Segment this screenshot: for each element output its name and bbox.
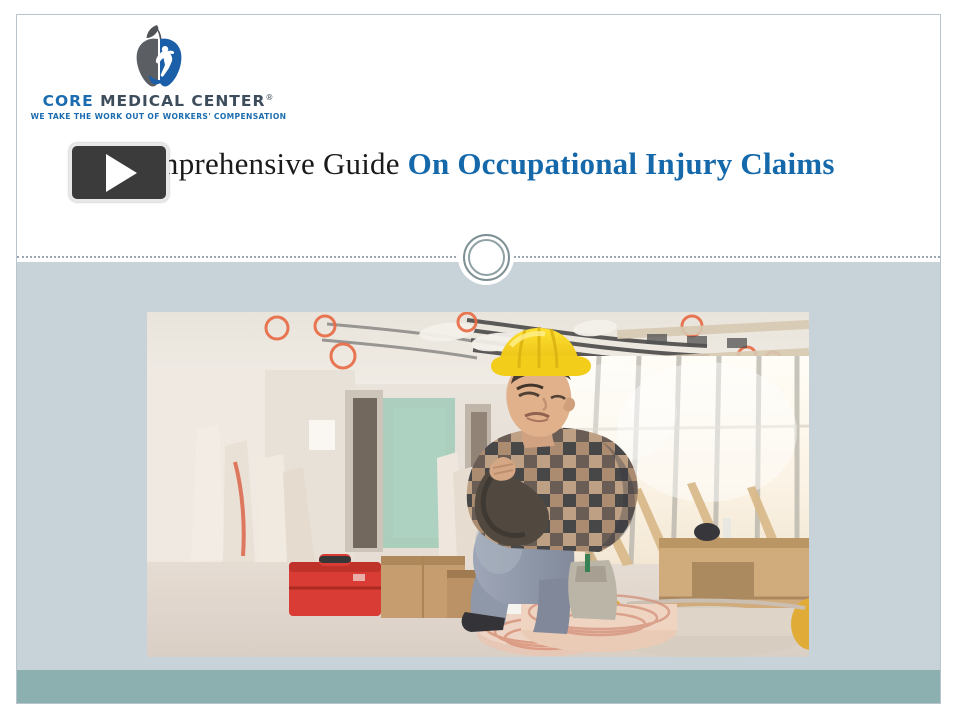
slide-footer-bar	[17, 670, 940, 703]
presentation-slide: CORE MEDICAL CENTER® WE TAKE THE WORK OU…	[16, 14, 941, 704]
slide-photo	[147, 312, 809, 657]
slide-viewer: CORE MEDICAL CENTER® WE TAKE THE WORK OU…	[0, 0, 958, 720]
slide-title: A Comprehensive Guide On Occupational In…	[89, 141, 904, 187]
play-triangle-icon	[106, 154, 137, 192]
circle-ring-inner	[468, 239, 505, 276]
double-ring-circle-icon	[458, 229, 514, 285]
construction-injury-photo	[147, 312, 809, 657]
logo-word-core: CORE	[43, 92, 94, 110]
slide-header: CORE MEDICAL CENTER® WE TAKE THE WORK OU…	[17, 15, 940, 257]
title-accent: On Occupational Injury Claims	[408, 146, 835, 181]
video-play-button[interactable]	[69, 143, 169, 202]
circle-ring-outer	[463, 234, 510, 281]
registered-mark: ®	[265, 93, 274, 102]
logo-word-rest: MEDICAL CENTER	[94, 92, 266, 110]
slide-body	[17, 262, 940, 670]
brand-logo: CORE MEDICAL CENTER® WE TAKE THE WORK OU…	[26, 23, 291, 121]
apple-runner-logo-icon	[127, 23, 191, 91]
logo-tagline: WE TAKE THE WORK OUT OF WORKERS' COMPENS…	[26, 112, 291, 121]
logo-wordmark: CORE MEDICAL CENTER®	[26, 93, 291, 109]
